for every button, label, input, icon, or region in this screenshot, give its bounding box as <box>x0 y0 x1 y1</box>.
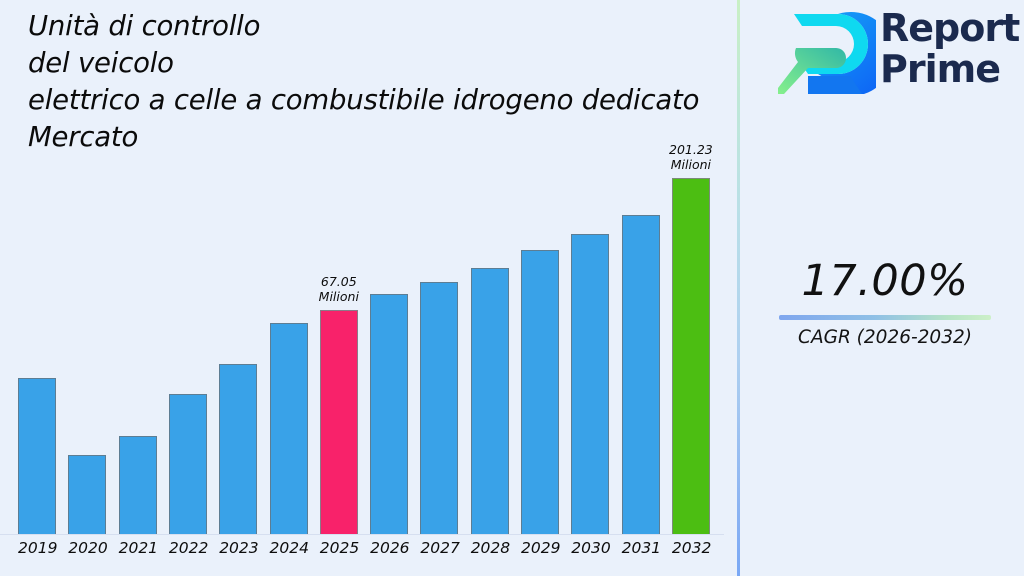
report-prime-wordmark: Report Prime <box>880 8 1019 90</box>
x-tick-2020: 2020 <box>68 538 106 558</box>
cagr-panel: 17.00% CAGR (2026-2032) <box>760 255 1010 350</box>
bar-2022 <box>169 394 207 534</box>
report-prime-logo-mark <box>778 10 876 96</box>
slide-canvas: Unità di controllo del veicolo elettrico… <box>0 0 1024 576</box>
bar-value-label-2032: 201.23 Milioni <box>648 142 734 172</box>
logo-line-2: Prime <box>880 49 1019 90</box>
x-axis-line <box>0 534 724 535</box>
bar-value-label-2025: 67.05 Milioni <box>296 274 382 304</box>
bar-2027 <box>420 282 458 534</box>
report-prime-logo: Report Prime <box>778 6 1008 98</box>
bar-2026 <box>370 294 408 534</box>
vertical-divider <box>737 0 740 576</box>
bar-2021 <box>119 436 157 534</box>
x-tick-2027: 2027 <box>420 538 458 558</box>
x-tick-2029: 2029 <box>521 538 559 558</box>
bar-2029 <box>521 250 559 534</box>
x-tick-2026: 2026 <box>370 538 408 558</box>
x-tick-2023: 2023 <box>219 538 257 558</box>
bar-2031 <box>622 215 660 534</box>
x-tick-2024: 2024 <box>270 538 308 558</box>
bar-chart: 67.05 Milioni201.23 Milioni 201920202021… <box>0 0 737 576</box>
bar-2028 <box>471 268 509 534</box>
x-tick-2019: 2019 <box>18 538 56 558</box>
cagr-label: CAGR (2026-2032) <box>760 326 1010 350</box>
cagr-value: 17.00% <box>760 255 1010 307</box>
x-tick-2032: 2032 <box>672 538 710 558</box>
bar-2024 <box>270 323 308 534</box>
x-tick-2030: 2030 <box>571 538 609 558</box>
bar-2030 <box>571 234 609 534</box>
cagr-divider-rule <box>779 315 991 320</box>
bar-2020 <box>68 455 106 534</box>
x-tick-2022: 2022 <box>169 538 207 558</box>
bar-2023 <box>219 364 257 534</box>
bar-2032 <box>672 178 710 534</box>
bar-2019 <box>18 378 56 534</box>
x-tick-2021: 2021 <box>119 538 157 558</box>
x-tick-2031: 2031 <box>622 538 660 558</box>
x-tick-2028: 2028 <box>471 538 509 558</box>
logo-line-1: Report <box>880 8 1019 49</box>
x-tick-2025: 2025 <box>320 538 358 558</box>
bar-2025 <box>320 310 358 534</box>
